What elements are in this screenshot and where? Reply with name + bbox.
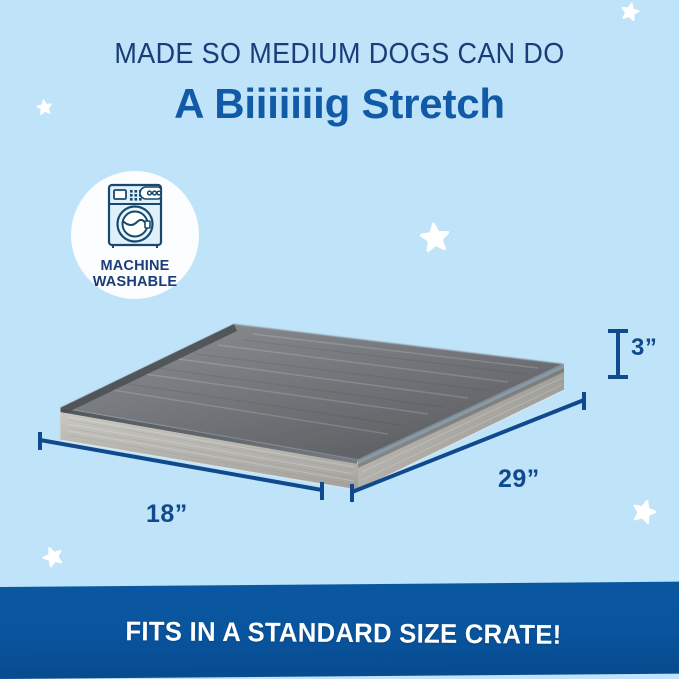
headline-block: MADE SO MEDIUM DOGS CAN DO A Biiiiiiig S… [0, 38, 679, 128]
badge-label-line-2: WASHABLE [93, 275, 178, 291]
infographic-canvas: MADE SO MEDIUM DOGS CAN DO A Biiiiiiig S… [0, 0, 679, 679]
machine-washable-badge: MACHINE WASHABLE [71, 171, 199, 299]
headline-line-2: A Biiiiiiig Stretch [0, 80, 679, 128]
dimension-label-18in: 18” [146, 500, 188, 529]
dimension-label-29in: 29” [498, 465, 540, 494]
star-bottom-left-icon [39, 543, 68, 572]
star-middle-icon [417, 220, 452, 255]
bottom-banner-content: FITS IN A STANDARD SIZE CRATE! [4, 587, 679, 679]
badge-label: MACHINE WASHABLE [93, 259, 178, 290]
headline-line-1: MADE SO MEDIUM DOGS CAN DO [24, 38, 655, 71]
bottom-banner-text: FITS IN A STANDARD SIZE CRATE! [125, 616, 561, 651]
star-bottom-right-icon [628, 496, 660, 528]
dimension-label-3in: 3” [631, 334, 657, 362]
washing-machine-icon [104, 182, 166, 253]
badge-label-line-1: MACHINE [93, 259, 178, 275]
star-top-right-icon [618, 0, 642, 24]
